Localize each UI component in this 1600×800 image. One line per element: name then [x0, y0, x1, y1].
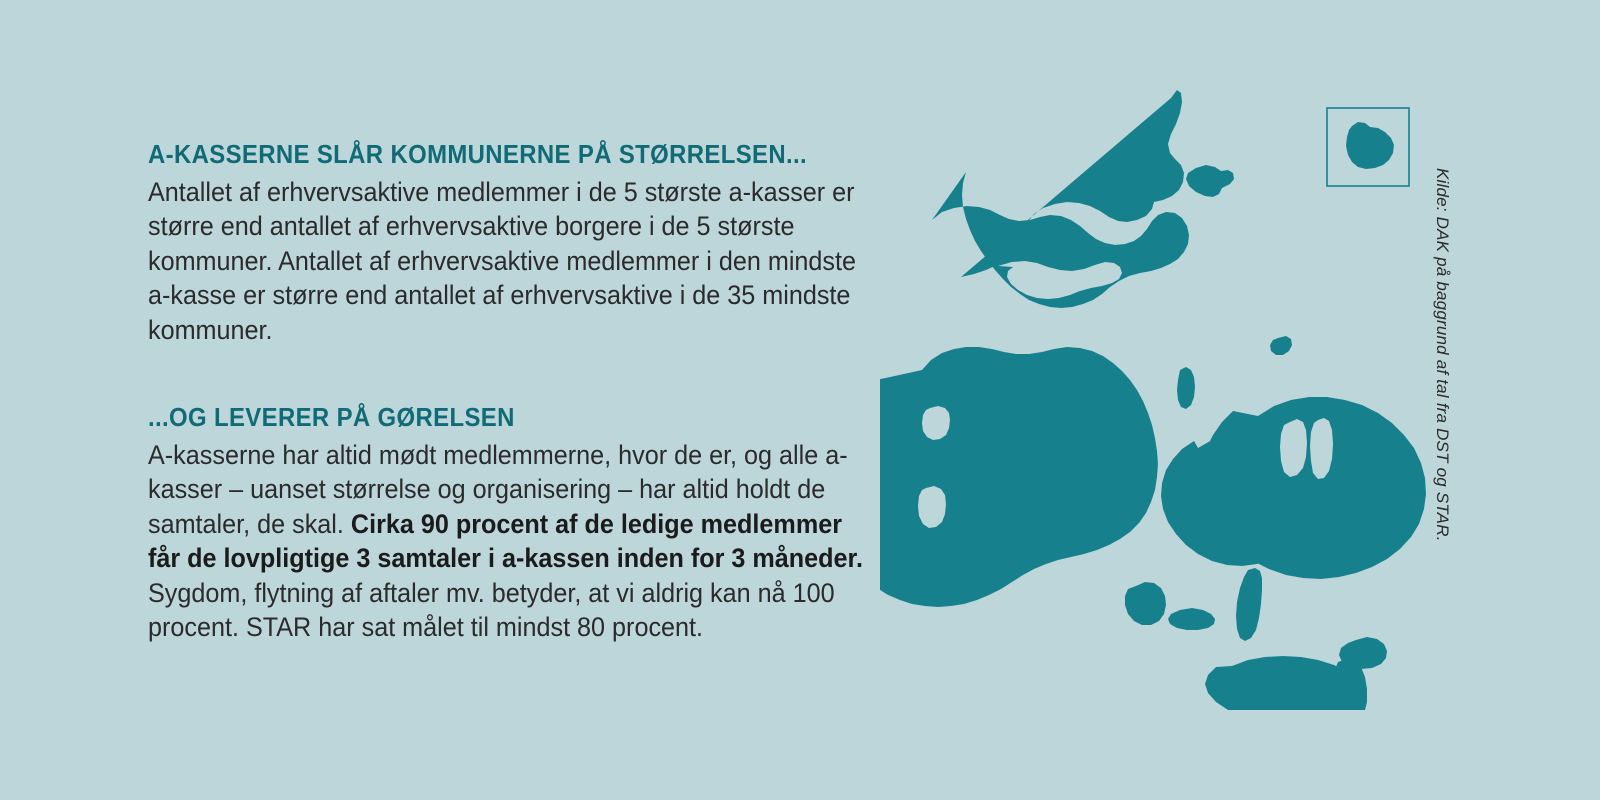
nissum-fjord-water — [922, 406, 950, 440]
text-column: A-KASSERNE SLÅR KOMMUNERNE PÅ STØRRELSEN… — [148, 140, 908, 645]
samsoe-island — [1177, 367, 1195, 409]
infographic-canvas: A-KASSERNE SLÅR KOMMUNERNE PÅ STØRRELSEN… — [0, 0, 1600, 800]
anholt-island — [1270, 336, 1292, 355]
randers-fjord — [1132, 338, 1174, 360]
text-block-2: ...OG LEVERER PÅ GØRELSEN A-kasserne har… — [148, 403, 908, 645]
bornholm-island — [1346, 122, 1394, 169]
aeroe-island — [1168, 608, 1215, 630]
laesoe-island — [1186, 165, 1234, 197]
central-south-jutland — [880, 347, 1158, 607]
als-island — [1125, 582, 1166, 625]
denmark-map — [880, 70, 1460, 710]
ringkoebing-fjord-water — [918, 486, 946, 528]
limfjord-water-2 — [962, 283, 1006, 320]
heading-og-leverer-paa-goerelsen: ...OG LEVERER PÅ GØRELSEN — [148, 403, 847, 432]
body-paragraph-1: Antallet af erhvervsaktive medlemmer i d… — [148, 175, 870, 348]
body-paragraph-2: A-kasserne har altid mødt medlemmerne, h… — [148, 438, 870, 645]
denmark-map-svg — [880, 70, 1460, 710]
mariager-fjord — [1125, 297, 1178, 323]
text-block-1: A-KASSERNE SLÅR KOMMUNERNE PÅ STØRRELSEN… — [148, 140, 908, 347]
langeland-island — [1236, 568, 1262, 641]
limfjord-water-3 — [1006, 312, 1045, 340]
heading-a-kasserne-slaar-kommunerne: A-KASSERNE SLÅR KOMMUNERNE PÅ STØRRELSEN… — [148, 140, 847, 169]
source-credit: Kilde: DAK på baggrund af tal fra DST og… — [1432, 168, 1452, 542]
